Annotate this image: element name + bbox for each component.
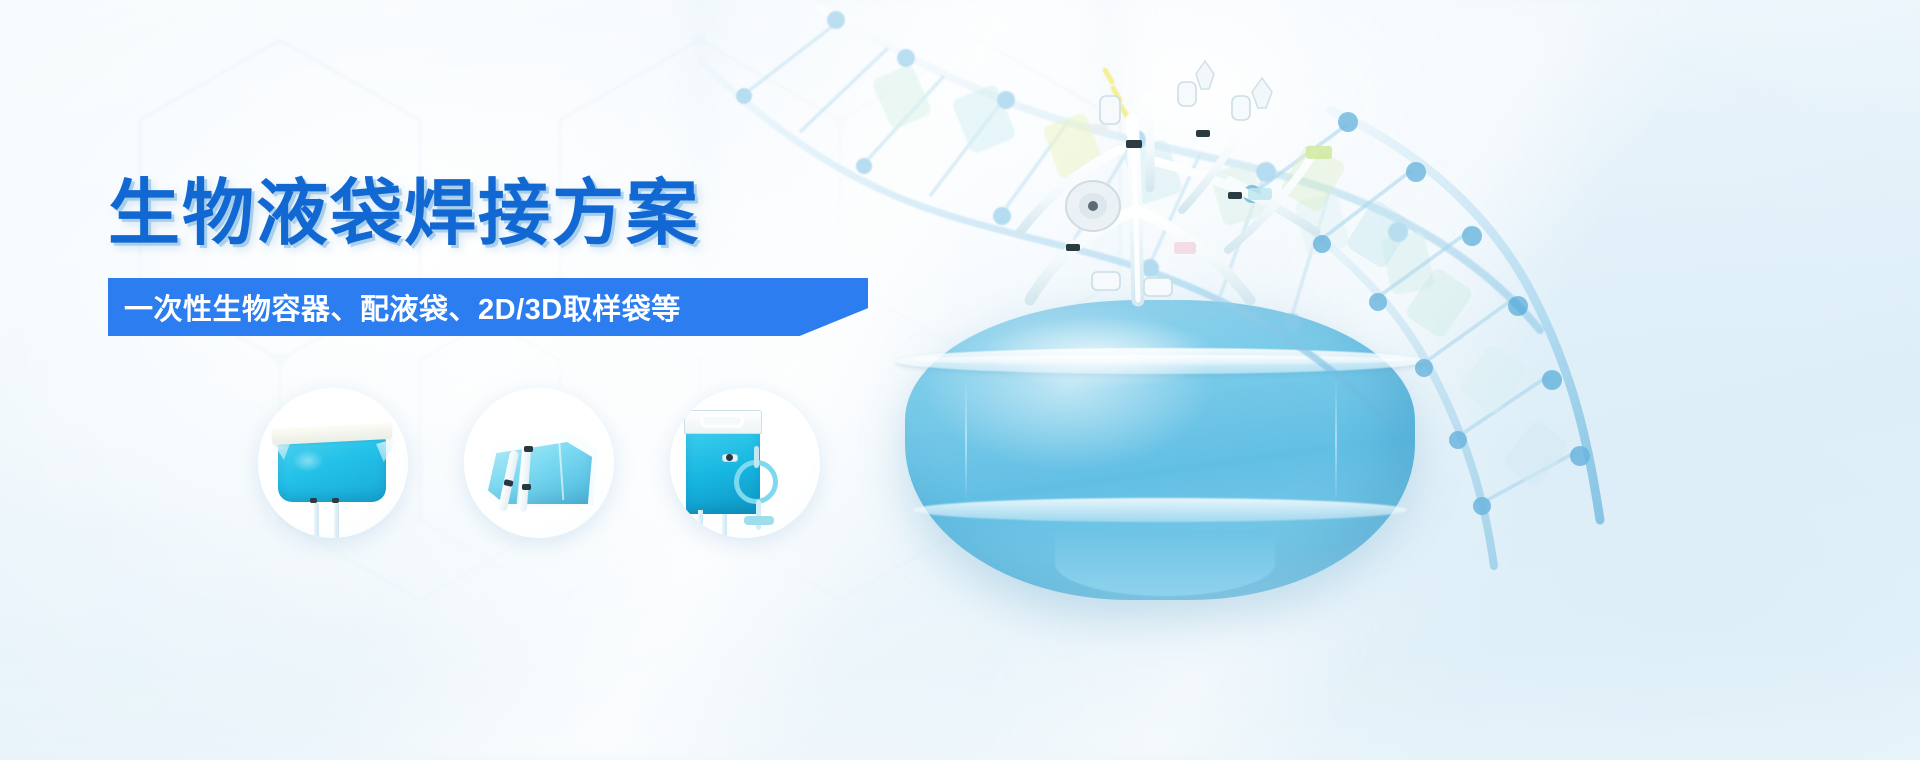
page-title: 生物液袋焊接方案 [108,178,868,250]
subtitle-banner: 一次性生物容器、配液袋、2D/3D取样袋等 [108,278,868,336]
cube-3d-bag-icon [464,388,614,538]
headline-block: 生物液袋焊接方案 一次性生物容器、配液袋、2D/3D取样袋等 [108,178,868,336]
hero-bioprocess-bag [905,300,1415,600]
pillow-bag-icon [258,388,408,538]
product-circle-disposable-container[interactable] [258,388,408,538]
sampling-bag-icon [670,388,820,538]
subtitle-text: 一次性生物容器、配液袋、2D/3D取样袋等 [108,286,681,328]
product-thumbnail-row [258,388,820,538]
hero-banner: 生物液袋焊接方案 一次性生物容器、配液袋、2D/3D取样袋等 [0,0,1920,760]
product-circle-mixing-bag[interactable] [464,388,614,538]
product-circle-sampling-bag[interactable] [670,388,820,538]
